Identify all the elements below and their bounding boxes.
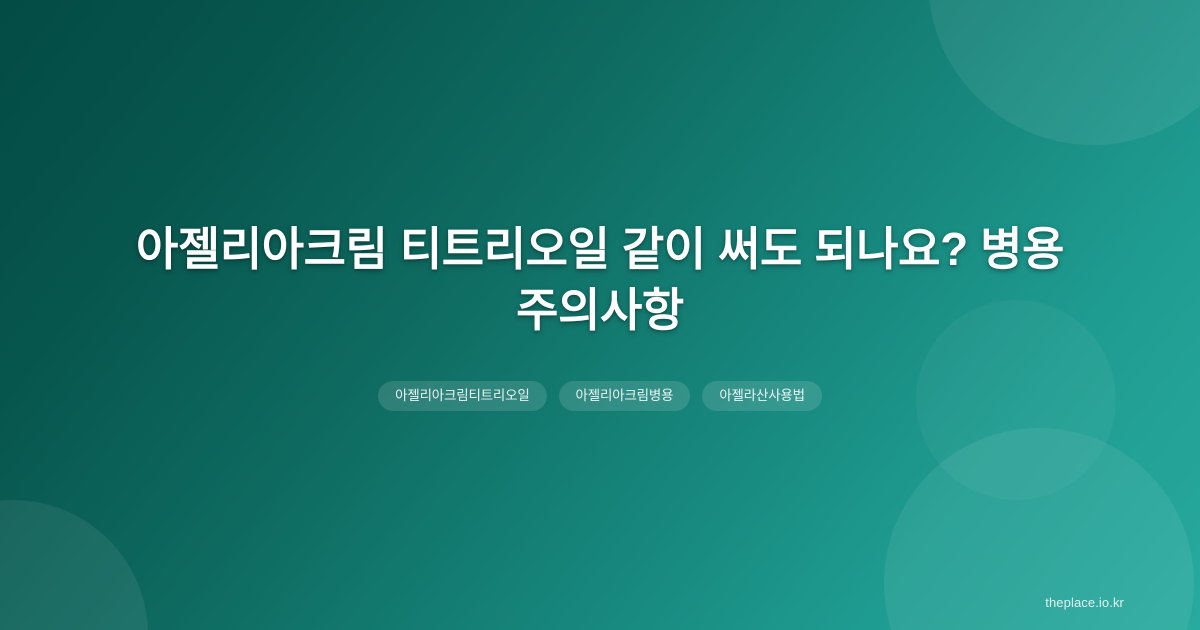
page-title: 아젤리아크림 티트리오일 같이 써도 되나요? 병용 주의사항 [83, 219, 1118, 341]
tag-item[interactable]: 아젤라산사용법 [702, 381, 822, 411]
tag-item[interactable]: 아젤리아크림병용 [559, 381, 691, 411]
tag-item[interactable]: 아젤리아크림티트리오일 [378, 381, 546, 411]
card-content: 아젤리아크림 티트리오일 같이 써도 되나요? 병용 주의사항 아젤리아크림티트… [0, 0, 1200, 630]
tag-list: 아젤리아크림티트리오일 아젤리아크림병용 아젤라산사용법 [378, 381, 822, 411]
site-watermark: theplace.io.kr [1045, 596, 1124, 609]
social-share-card: 아젤리아크림 티트리오일 같이 써도 되나요? 병용 주의사항 아젤리아크림티트… [0, 0, 1200, 630]
